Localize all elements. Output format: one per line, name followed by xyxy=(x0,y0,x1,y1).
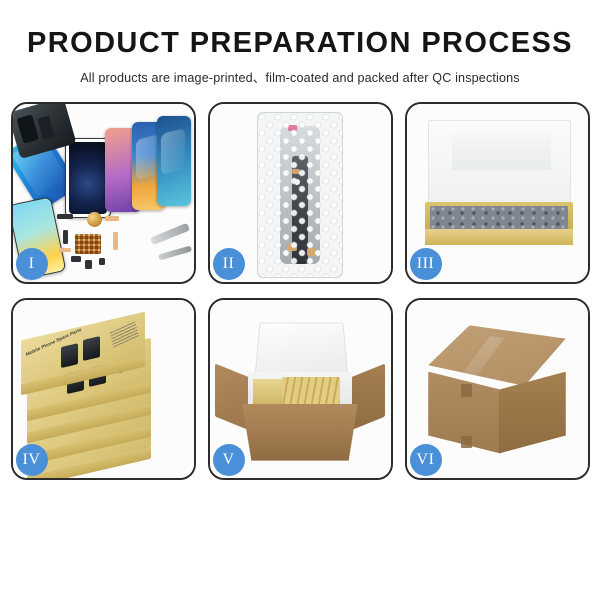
screwdriver-tool xyxy=(157,246,191,261)
box-barcode-1 xyxy=(109,320,138,348)
step-panel-2: II xyxy=(208,102,393,284)
gray-foam-insert xyxy=(430,206,568,229)
chip-component-3 xyxy=(71,256,81,262)
step-badge-6: VI xyxy=(410,444,442,476)
flex-cable-1 xyxy=(105,216,119,221)
kraft-tray-front xyxy=(425,229,573,245)
page-subtitle: All products are image-printed、film-coat… xyxy=(0,67,600,86)
chip-component-1 xyxy=(57,214,73,219)
foam-lid-inner xyxy=(452,133,551,170)
chip-component-4 xyxy=(85,260,92,269)
flex-cable-2 xyxy=(113,232,118,250)
stacked-box-1: Mobile Phone Spare Parts xyxy=(21,326,145,381)
box-window-1b xyxy=(83,337,100,362)
carton-tab-lower xyxy=(461,436,472,448)
box-window-1a xyxy=(61,344,78,369)
step-panel-3: III xyxy=(405,102,590,284)
carton-tab-upper xyxy=(461,384,472,397)
step-badge-4: IV xyxy=(16,444,48,476)
steps-grid: I II xyxy=(0,102,600,480)
step-badge-3: III xyxy=(410,248,442,280)
chip-component-5 xyxy=(99,258,105,265)
step-panel-1: I xyxy=(11,102,196,284)
carton-side-face xyxy=(499,372,566,454)
step-badge-1: I xyxy=(16,248,48,280)
step-panel-4: Mobile Phone Spare Parts Mobile Phone Sp… xyxy=(11,298,196,480)
step-badge-2: II xyxy=(213,248,245,280)
product-preparation-infographic: PRODUCT PREPARATION PROCESS All products… xyxy=(0,0,600,600)
carton-body xyxy=(242,404,358,461)
flex-cable-3 xyxy=(59,248,71,252)
speaker-component xyxy=(87,212,102,227)
bubble-texture xyxy=(258,113,341,277)
bubble-wrap-bag xyxy=(258,113,341,277)
yellow-box-1 xyxy=(253,379,282,407)
teal-screen xyxy=(157,116,191,206)
page-title: PRODUCT PREPARATION PROCESS xyxy=(0,28,600,58)
step-panel-6: VI xyxy=(405,298,590,480)
step-badge-5: V xyxy=(213,444,245,476)
front-glass xyxy=(65,138,111,218)
step-panel-5: V xyxy=(208,298,393,480)
chip-component-2 xyxy=(63,230,68,244)
yellow-box-stack xyxy=(282,377,340,407)
tweezers-tool xyxy=(149,223,189,245)
keypad-component xyxy=(75,234,101,254)
foam-lid xyxy=(428,120,571,211)
header: PRODUCT PREPARATION PROCESS All products… xyxy=(0,0,600,86)
